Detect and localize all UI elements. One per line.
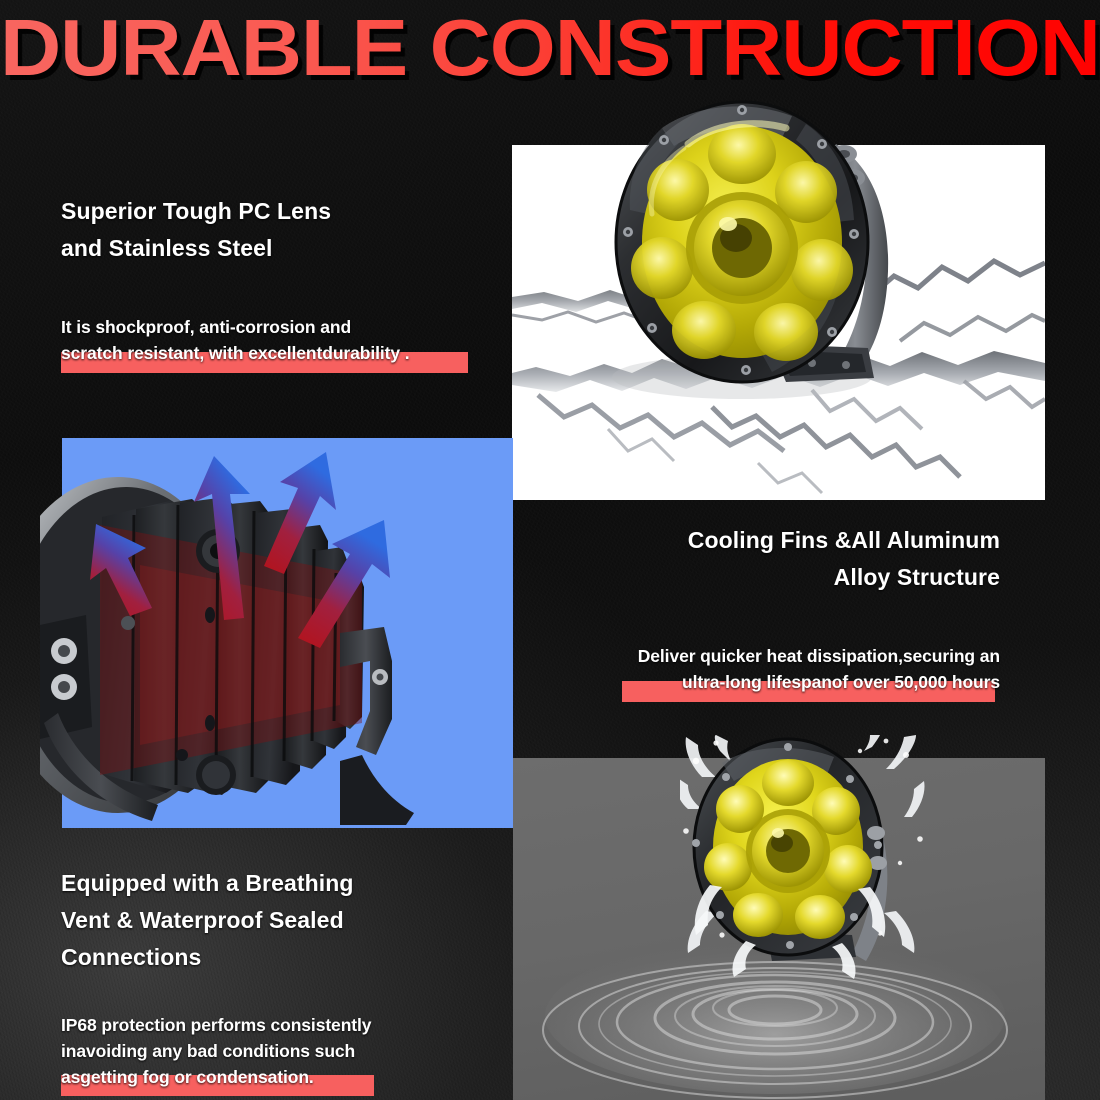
led-light-rear-fins-view (40, 455, 440, 825)
vent-body-line2: inavoiding any bad conditions such (61, 1038, 491, 1064)
vent-body-line3: asgetting fog or condensation. (61, 1064, 491, 1090)
cooling-body-line1: Deliver quicker heat dissipation,securin… (570, 643, 1000, 669)
vent-body: IP68 protection performs consistently in… (61, 1012, 491, 1090)
vent-body-line1: IP68 protection performs consistently (61, 1012, 491, 1038)
cooling-body: Deliver quicker heat dissipation,securin… (570, 643, 1000, 695)
vent-heading-line2: Vent & Waterproof Sealed (61, 902, 491, 939)
cooling-heading: Cooling Fins &All Aluminum Alloy Structu… (570, 522, 1000, 596)
cooling-heading-line1: Cooling Fins &All Aluminum (570, 522, 1000, 559)
lens-heading: Superior Tough PC Lens and Stainless Ste… (61, 193, 491, 267)
vent-heading-line3: Connections (61, 939, 491, 976)
led-light-in-water-splash (680, 735, 925, 985)
text-block-breathing-vent: Equipped with a Breathing Vent & Waterpr… (61, 865, 491, 1090)
cooling-heading-line2: Alloy Structure (570, 559, 1000, 596)
lens-body-line1: It is shockproof, anti-corrosion and (61, 314, 491, 340)
lens-heading-line2: and Stainless Steel (61, 230, 491, 267)
vent-heading: Equipped with a Breathing Vent & Waterpr… (61, 865, 491, 976)
text-block-pc-lens: Superior Tough PC Lens and Stainless Ste… (61, 193, 491, 366)
product-infographic-poster: DURABLE CONSTRUCTION (0, 0, 1100, 1100)
text-block-cooling-fins: Cooling Fins &All Aluminum Alloy Structu… (570, 522, 1000, 695)
lens-heading-line1: Superior Tough PC Lens (61, 193, 491, 230)
page-title: DURABLE CONSTRUCTION (0, 2, 1100, 94)
cooling-body-line2: ultra-long lifespanof over 50,000 hours (570, 669, 1000, 695)
led-driving-light-front-view (600, 82, 930, 412)
vent-heading-line1: Equipped with a Breathing (61, 865, 491, 902)
lens-body-line2: scratch resistant, with excellentdurabil… (61, 340, 491, 366)
lens-body: It is shockproof, anti-corrosion and scr… (61, 314, 491, 366)
